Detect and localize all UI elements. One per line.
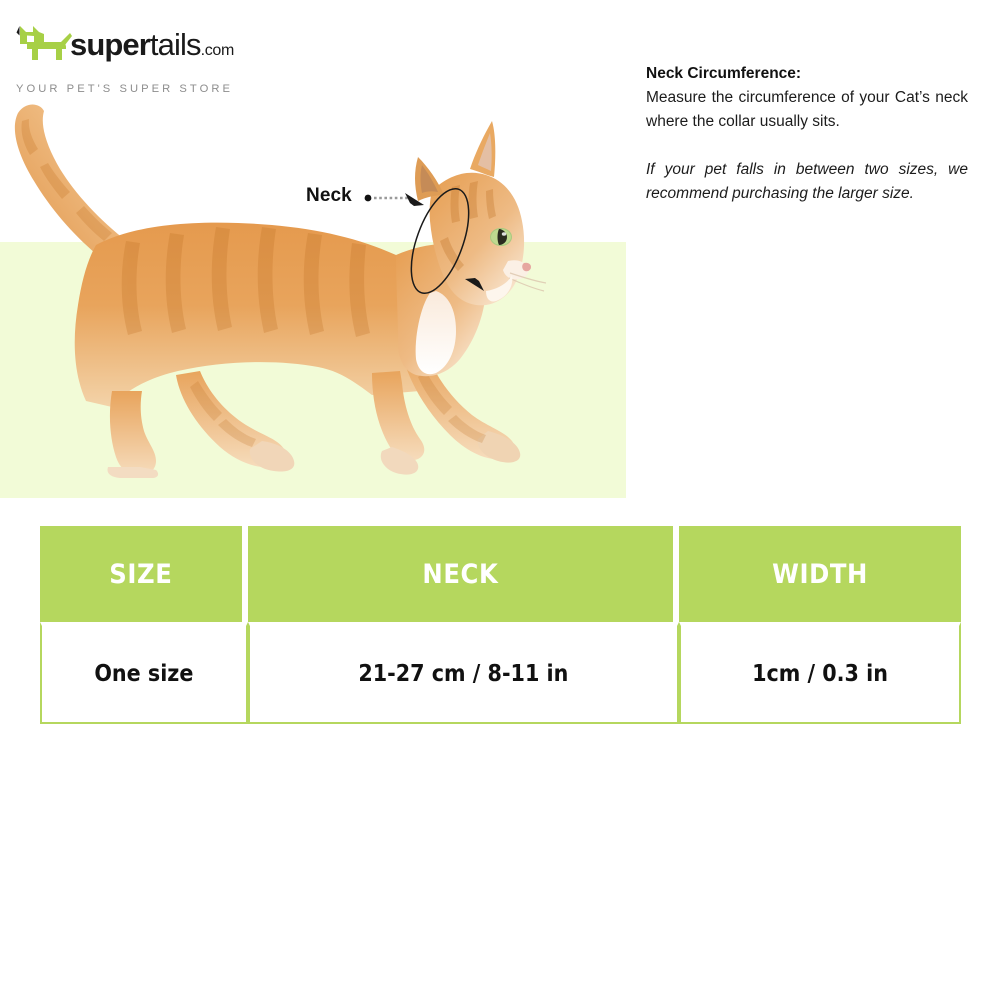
column-header-size: SIZE <box>40 526 248 622</box>
info-panel: Neck Circumference: Measure the circumfe… <box>646 62 968 206</box>
info-note: If your pet falls in between two sizes, … <box>646 158 968 206</box>
info-body: Measure the circumference of your Cat’s … <box>646 86 968 134</box>
brand-wordmark: supertails.com <box>70 28 234 68</box>
column-header-neck: NECK <box>248 526 679 622</box>
cell-width: 1cm / 0.3 in <box>679 622 961 724</box>
brand-name-light: tails <box>150 27 201 62</box>
neck-annotation: Neck <box>306 183 536 303</box>
neck-marker-dot <box>365 195 372 202</box>
info-heading: Neck Circumference: <box>646 62 968 86</box>
cell-neck: 21-27 cm / 8-11 in <box>248 622 679 724</box>
dog-silhouette-icon <box>14 24 72 68</box>
brand-name-tld: .com <box>201 42 234 59</box>
brand-logo[interactable]: supertails.com YOUR PET'S SUPER STORE <box>8 20 258 86</box>
neck-loop-arrowheads <box>405 193 484 291</box>
table-header-row: SIZE NECK WIDTH <box>40 526 961 622</box>
column-header-width: WIDTH <box>679 526 961 622</box>
table-row: One size 21-27 cm / 8-11 in 1cm / 0.3 in <box>40 622 961 724</box>
size-chart-table: SIZE NECK WIDTH One size 21-27 cm / 8-11… <box>40 526 961 724</box>
brand-tagline: YOUR PET'S SUPER STORE <box>16 83 233 95</box>
cell-size: One size <box>40 622 248 724</box>
brand-name-bold: super <box>70 27 150 62</box>
